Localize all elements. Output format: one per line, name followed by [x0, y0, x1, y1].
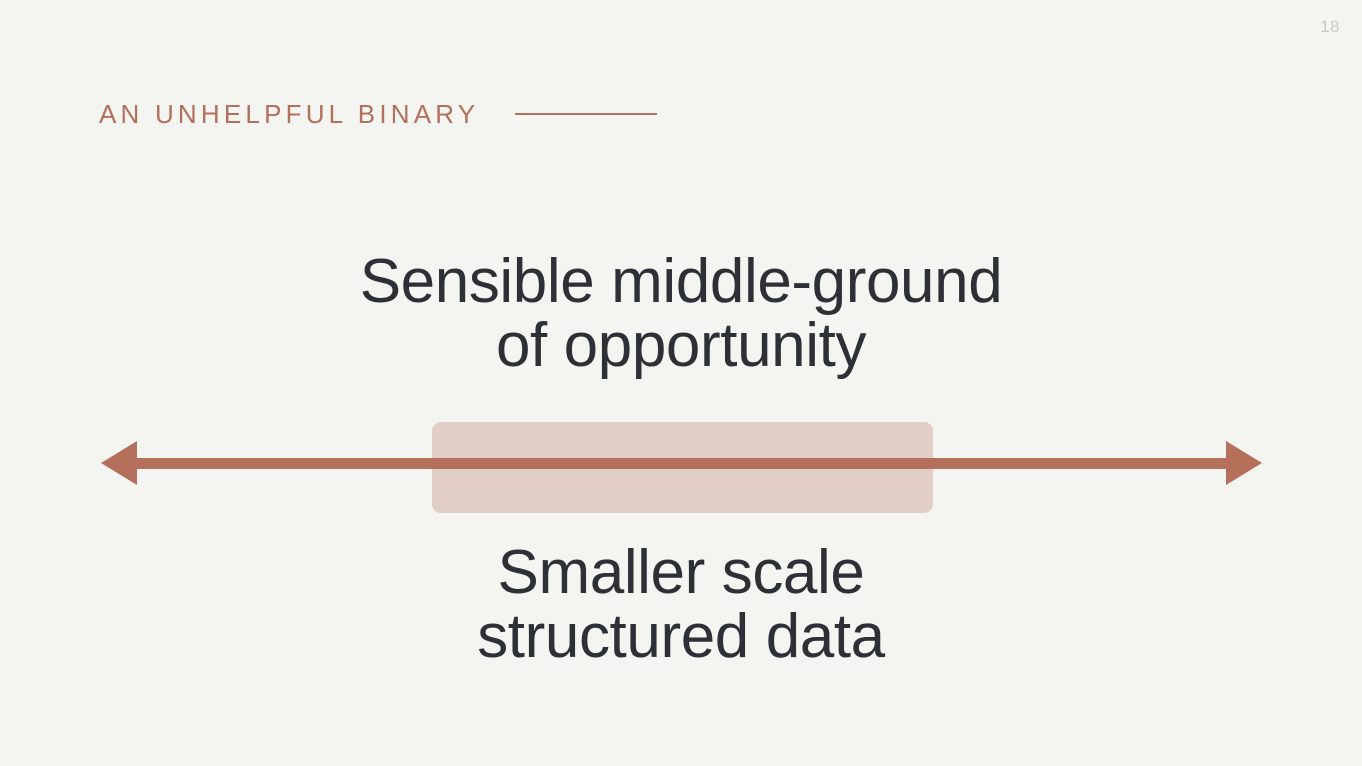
slide-kicker: AN UNHELPFUL BINARY — [99, 96, 657, 132]
lower-label-line-1: Smaller scale — [0, 541, 1362, 605]
spectrum-axis-line — [136, 458, 1228, 469]
page-number: 18 — [1320, 18, 1340, 35]
upper-label-line-2: of opportunity — [0, 314, 1362, 378]
right-arrowhead-icon — [1226, 441, 1262, 485]
kicker-rule-divider — [515, 113, 657, 115]
upper-label-line-1: Sensible middle-ground — [0, 250, 1362, 314]
lower-label-line-2: structured data — [0, 605, 1362, 669]
left-arrowhead-icon — [101, 441, 137, 485]
upper-label-block: Sensible middle-ground of opportunity — [0, 250, 1362, 378]
lower-label-block: Smaller scale structured data — [0, 541, 1362, 669]
kicker-label: AN UNHELPFUL BINARY — [99, 101, 479, 127]
slide: 18 AN UNHELPFUL BINARY Sensible middle-g… — [0, 0, 1362, 766]
middle-ground-band — [432, 422, 933, 513]
